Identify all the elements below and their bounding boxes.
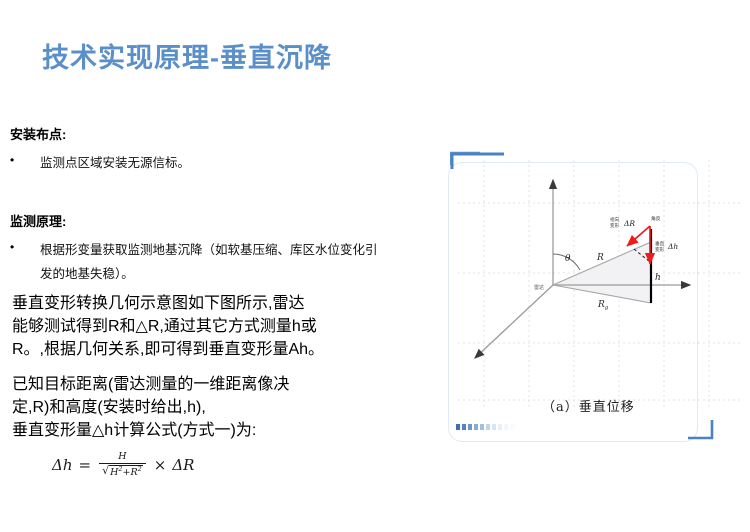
formula-equals: = — [79, 456, 92, 474]
sqrt-group: √H2+R2 — [102, 465, 143, 478]
label-vertical-deformation-line2: 变形 — [655, 246, 665, 253]
label-corner-reflector: 角反 — [651, 215, 661, 222]
formula-times: × — [154, 456, 167, 474]
axis-oblique — [475, 285, 553, 358]
vertical-displacement-diagram: 雷达 θ R Rg h 视向 变形 ΔR 角反 垂直 变形 Δh — [458, 160, 743, 410]
label-los-deformation-line2: 变形 — [610, 222, 620, 229]
label-delta-h: Δh — [667, 242, 678, 251]
list-item: • 监测点区域安装无源信标。 — [10, 151, 455, 175]
content-column: 安装布点: • 监测点区域安装无源信标。 监测原理: • 根据形变量获取监测地基… — [0, 124, 455, 478]
figure-panel: 雷达 θ R Rg h 视向 变形 ΔR 角反 垂直 变形 Δh （a）垂直位移 — [458, 160, 743, 445]
label-theta: θ — [565, 254, 571, 264]
list-item: • 根据形变量获取监测地基沉降（如软基压缩、库区水位变化引 发的地基失稳）。 — [10, 238, 455, 286]
formula-delta-h: Δh = H √H2+R2 × ΔR — [52, 452, 455, 478]
figure-caption: （a）垂直位移 — [542, 396, 722, 415]
paragraph-formula-intro: 已知目标距离(雷达测量的一维距离像决 定,R)和高度(安装时给出,h), 垂直变… — [12, 373, 455, 442]
label-slant-range: R — [596, 253, 604, 263]
bullet-icon: • — [10, 238, 22, 256]
bullet-text-line-2: 发的地基失稳）。 — [40, 267, 134, 281]
dot-strip-decoration — [456, 422, 526, 432]
label-radar: 雷达 — [534, 284, 544, 291]
formula-numerator: H — [114, 452, 130, 463]
formula-denominator: √H2+R2 — [99, 464, 146, 478]
section-heading-installation: 安装布点: — [10, 124, 455, 143]
formula-radicand: H2+R2 — [109, 465, 143, 478]
label-ground-range: Rg — [597, 300, 609, 311]
bullet-text: 监测点区域安装无源信标。 — [22, 151, 455, 175]
bullet-text-line-1: 根据形变量获取监测地基沉降（如软基压缩、库区水位变化引 — [40, 243, 378, 257]
delta-r-arrow — [627, 226, 650, 246]
bullet-icon: • — [10, 151, 22, 169]
label-delta-r: ΔR — [623, 219, 635, 228]
label-vertical-deformation: 垂直 — [655, 240, 665, 247]
slide-canvas: 技术实现原理-垂直沉降 安装布点: • 监测点区域安装无源信标。 监测原理: •… — [0, 0, 750, 532]
bullet-text-block: 根据形变量获取监测地基沉降（如软基压缩、库区水位变化引 发的地基失稳）。 — [22, 238, 455, 286]
section-heading-principle: 监测原理: — [10, 211, 455, 230]
label-los-deformation: 视向 — [610, 216, 620, 223]
radical-icon: √ — [102, 465, 109, 478]
label-height: h — [655, 273, 661, 283]
formula-rhs: ΔR — [172, 456, 194, 474]
paragraph-geometry-description: 垂直变形转换几何示意图如下图所示,雷达 能够测试得到R和△R,通过其它方式测量h… — [12, 292, 455, 361]
corner-bracket-bottom-right-icon — [686, 418, 716, 442]
page-title: 技术实现原理-垂直沉降 — [42, 36, 332, 75]
formula-lhs: Δh — [52, 456, 73, 474]
formula-fraction: H √H2+R2 — [99, 452, 146, 478]
